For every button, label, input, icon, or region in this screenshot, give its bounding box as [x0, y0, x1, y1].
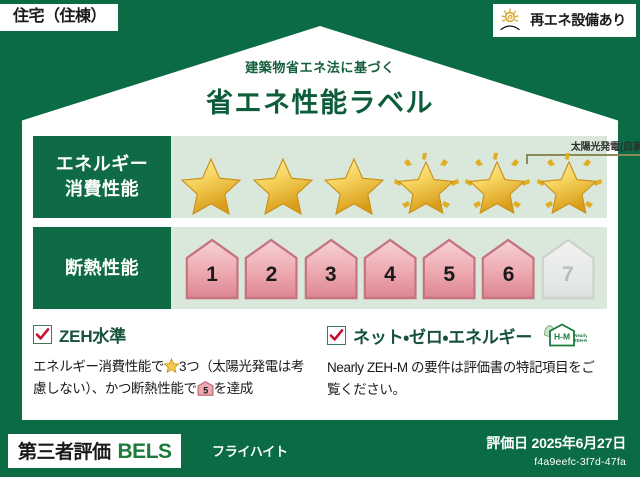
insulation-grade-3-value: 3 [325, 251, 337, 287]
net-zero-energy-checkbox[interactable] [327, 326, 346, 345]
net-zero-energy-note: ネット・ゼロ・エネルギー H-M Nearly ZEH-M Nearly ZEH… [322, 322, 611, 401]
zeh-body-part3: を達成 [214, 381, 253, 396]
builder-name: フライハイト [212, 441, 288, 460]
evaluation-id: f4a9eefc-3f7d-47fa [486, 456, 626, 468]
zeh-m-logo-icon: H-M Nearly ZEH-M [541, 322, 587, 348]
insulation-grade-3: 3 [304, 238, 358, 300]
energy-label-line2: 消費性能 [65, 177, 139, 202]
evaluation-info: 評価日 2025年6月27日 f4a9eefc-3f7d-47fa [486, 433, 626, 468]
insulation-performance-row: 断熱性能 [33, 227, 607, 309]
energy-performance-row: エネルギー 消費性能 太陽光発電(自家消費)分 [33, 136, 607, 218]
insulation-grade-4: 4 [363, 238, 417, 300]
star-3 [320, 153, 388, 215]
renewable-tag-label: 再エネ設備あり [530, 10, 626, 30]
zeh-standard-note: ZEH水準 エネルギー消費性能で3つ（太陽光発電は考慮しない）、かつ断熱性能で5… [33, 322, 322, 401]
inline-house-badge-icon: 5 [197, 381, 214, 396]
energy-label-line1: エネルギー [56, 152, 149, 177]
insulation-grade-7-value: 7 [562, 251, 574, 287]
zeh-standard-checkbox[interactable] [33, 325, 52, 344]
net-zero-energy-title: ネット・ゼロ・エネルギー [353, 323, 532, 348]
insulation-grade-5: 5 [422, 238, 476, 300]
insulation-grade-5-value: 5 [443, 251, 455, 287]
energy-performance-label: 住宅（住棟） 再エネ設備あり 建築物省エネ法に基づく [0, 0, 640, 477]
zeh-standard-heading: ZEH水準 [33, 322, 310, 347]
zeh-body-part1: エネルギー消費性能で [33, 359, 164, 374]
insulation-grade-4-value: 4 [384, 251, 396, 287]
label-footer: 第三者評価 BELS フライハイト 評価日 2025年6月27日 f4a9eef… [0, 422, 640, 477]
title-subtitle: 建築物省エネ法に基づく [0, 57, 640, 76]
star-6-solar [535, 153, 603, 215]
insulation-grade-6: 6 [481, 238, 535, 300]
svg-text:5: 5 [203, 385, 208, 395]
energy-rating-panel: 太陽光発電(自家消費)分 [171, 136, 607, 218]
insulation-grade-7: 7 [541, 238, 595, 300]
zeh-standard-body: エネルギー消費性能で3つ（太陽光発電は考慮しない）、かつ断熱性能で5を達成 [33, 356, 310, 400]
star-rating [177, 153, 603, 215]
insulation-label-text: 断熱性能 [65, 256, 139, 281]
insulation-grade-1-value: 1 [206, 251, 218, 287]
insulation-grade-scale: 1 2 3 [185, 238, 595, 300]
net-zero-energy-body: Nearly ZEH-M の要件は評価書の特記項目をご覧ください。 [327, 357, 599, 401]
sun-renewable-icon [499, 8, 525, 32]
insulation-grade-2: 2 [244, 238, 298, 300]
svg-text:H-M: H-M [554, 332, 570, 342]
star-5-solar [463, 153, 531, 215]
zeh-standard-title: ZEH水準 [59, 322, 126, 347]
insulation-performance-label: 断熱性能 [33, 227, 171, 309]
bels-badge: 第三者評価 BELS [8, 434, 181, 468]
insulation-grade-6-value: 6 [503, 251, 515, 287]
star-1 [177, 153, 245, 215]
star-4-solar [392, 153, 460, 215]
building-type-tag: 住宅（住棟） [0, 4, 118, 31]
inline-star-icon [164, 358, 179, 373]
renewable-energy-tag: 再エネ設備あり [493, 4, 636, 37]
title-main: 省エネ性能ラベル [0, 81, 640, 120]
insulation-rating-panel: 1 2 3 [171, 227, 607, 309]
insulation-grade-2-value: 2 [266, 251, 278, 287]
performance-rows: エネルギー 消費性能 太陽光発電(自家消費)分 [33, 136, 607, 309]
notes-section: ZEH水準 エネルギー消費性能で3つ（太陽光発電は考慮しない）、かつ断熱性能で5… [33, 322, 611, 401]
evaluation-date: 評価日 2025年6月27日 [486, 433, 626, 453]
bels-logo-text: BELS [118, 440, 172, 464]
net-zero-energy-heading: ネット・ゼロ・エネルギー H-M Nearly ZEH-M [327, 322, 599, 348]
insulation-grade-1: 1 [185, 238, 239, 300]
solar-bracket-caption: 太陽光発電(自家消費)分 [501, 138, 640, 153]
third-party-eval-label: 第三者評価 [18, 437, 111, 464]
star-2 [249, 153, 317, 215]
energy-performance-label: エネルギー 消費性能 [33, 136, 171, 218]
svg-text:ZEH-M: ZEH-M [574, 338, 587, 343]
title-block: 建築物省エネ法に基づく 省エネ性能ラベル [0, 57, 640, 120]
